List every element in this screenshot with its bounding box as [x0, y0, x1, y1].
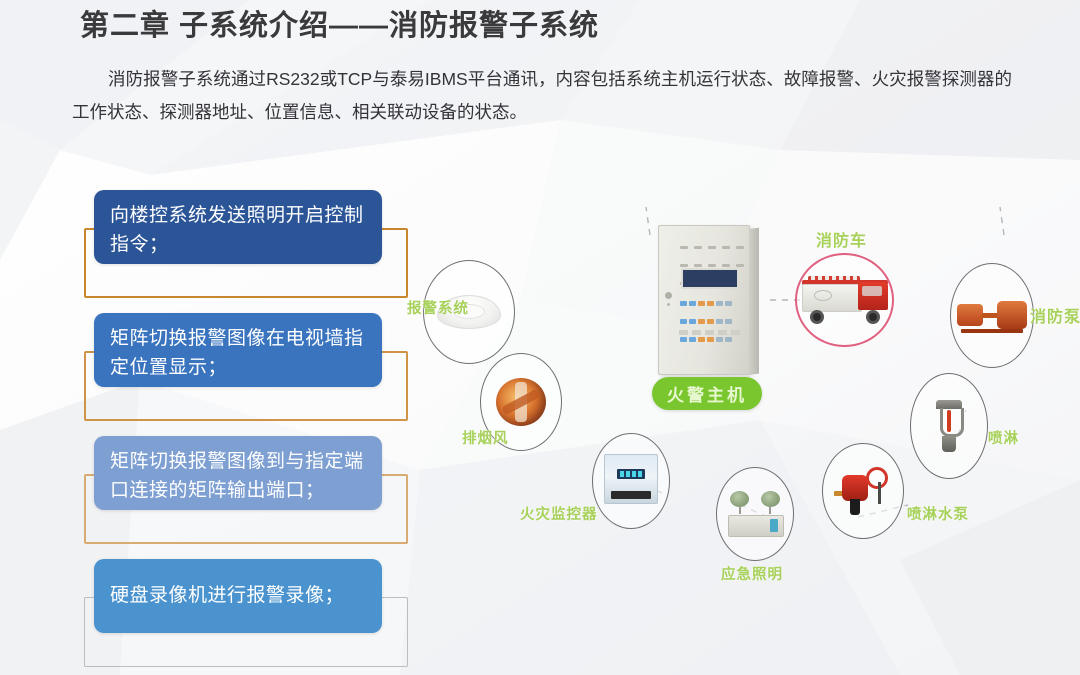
fire-alarm-control-panel: [650, 225, 762, 375]
bullet-item-2[interactable]: 矩阵切换报警图像在电视墙指定位置显示；: [0, 313, 430, 423]
label-sprinkler-pump: 喷淋水泵: [907, 503, 969, 524]
fire-monitor-icon: [593, 434, 669, 528]
bubble-fire-pump: [950, 263, 1034, 368]
sprinkler-head-icon: [911, 374, 987, 478]
bullet-chip-4[interactable]: 硬盘录像机进行报警录像；: [94, 559, 382, 633]
paragraph-text: 消防报警子系统通过RS232或TCP与泰易IBMS平台通讯，内容包括系统主机运行…: [72, 69, 1012, 122]
bubble-sprinkler: [910, 373, 988, 479]
bubble-fire-truck: [795, 253, 894, 347]
bullet-chip-3[interactable]: 矩阵切换报警图像到与指定端口连接的矩阵输出端口；: [94, 436, 382, 510]
bubble-fire-monitor: [592, 433, 670, 529]
label-exhaust-fan: 排烟风: [462, 427, 509, 448]
label-alarm-system: 报警系统: [407, 297, 469, 318]
fire-system-diagram: 火警主机 报警系统 排烟风 火灾监控器: [410, 205, 1080, 625]
intro-paragraph: 消防报警子系统通过RS232或TCP与泰易IBMS平台通讯，内容包括系统主机运行…: [72, 63, 1012, 129]
label-fire-truck: 消防车: [816, 227, 867, 251]
bullet-item-3[interactable]: 矩阵切换报警图像到与指定端口连接的矩阵输出端口；: [0, 436, 430, 546]
label-fire-pump: 消防泵: [1030, 303, 1080, 327]
fire-pump-icon: [951, 264, 1033, 367]
panel-side-face: [749, 228, 759, 375]
sprinkler-pump-icon: [823, 444, 903, 538]
bubble-emergency-lighting: [716, 467, 794, 561]
bullet-item-4[interactable]: 硬盘录像机进行报警录像；: [0, 559, 430, 669]
bubble-sprinkler-pump: [822, 443, 904, 539]
bullet-chip-2[interactable]: 矩阵切换报警图像在电视墙指定位置显示；: [94, 313, 382, 387]
label-emergency-lighting: 应急照明: [721, 563, 783, 584]
label-fire-monitor: 火灾监控器: [520, 503, 598, 524]
emergency-light-icon: [717, 468, 793, 560]
panel-indicator-leds: [677, 238, 749, 260]
panel-keypad: [679, 294, 741, 320]
center-node-badge: 火警主机: [652, 377, 762, 410]
panel-brand-strip: [679, 330, 741, 335]
bullet-chip-1[interactable]: 向楼控系统发送照明开启控制指令；: [94, 190, 382, 264]
panel-lcd-display: [681, 268, 739, 289]
panel-key-lock-icon: [665, 292, 672, 299]
panel-body: [658, 225, 750, 375]
fire-truck-icon: [797, 255, 892, 345]
slide-root: 第二章 子系统介绍——消防报警子系统 消防报警子系统通过RS232或TCP与泰易…: [0, 0, 1080, 675]
page-title: 第二章 子系统介绍——消防报警子系统: [80, 6, 599, 46]
bullet-list: 向楼控系统发送照明开启控制指令； 矩阵切换报警图像在电视墙指定位置显示； 矩阵切…: [0, 190, 430, 660]
bullet-item-1[interactable]: 向楼控系统发送照明开启控制指令；: [0, 190, 430, 300]
label-sprinkler: 喷淋: [988, 427, 1019, 448]
